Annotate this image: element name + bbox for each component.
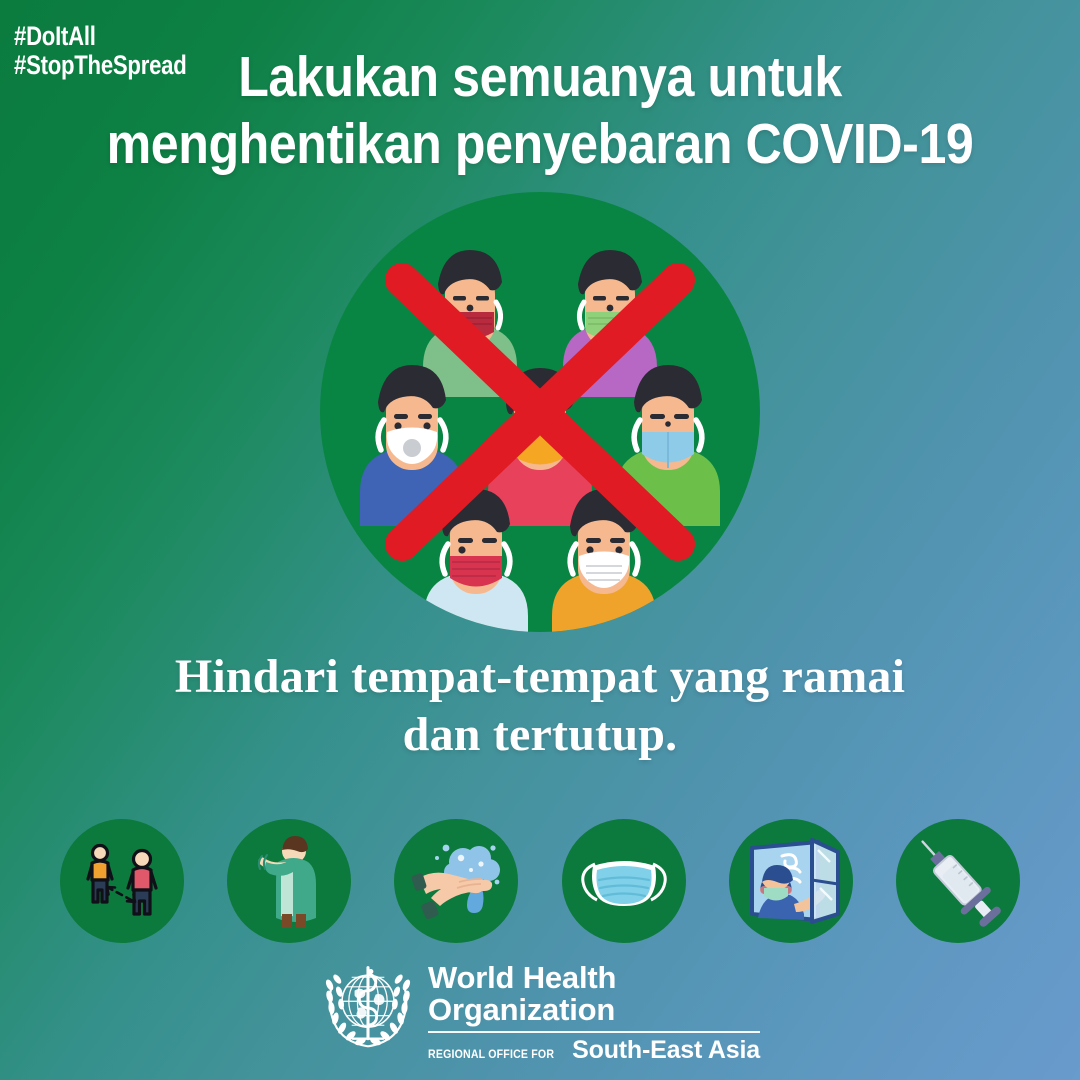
wash-hands-icon (394, 819, 518, 943)
headline-line-1: Lakukan semuanya untuk (65, 44, 1015, 111)
headline-line-2: menghentikan penyebaran COVID-19 (65, 111, 1015, 178)
wear-mask-icon (562, 819, 686, 943)
poster-canvas: #DoItAll #StopTheSpread Lakukan semuanya… (0, 0, 1080, 1080)
open-window-ventilation-icon (729, 819, 853, 943)
vaccine-syringe-icon (896, 819, 1020, 943)
who-regional-prefix: REGIONAL OFFICE FOR (428, 1049, 554, 1061)
who-name-line-1: World Health (428, 962, 760, 994)
physical-distancing-icon (60, 819, 184, 943)
who-region-name: South-East Asia (572, 1038, 760, 1063)
subtitle-line-1: Hindari tempat-tempat yang ramai (0, 648, 1080, 706)
who-name-line-2: Organization (428, 994, 760, 1026)
who-logo: World Health Organization REGIONAL OFFIC… (0, 958, 1080, 1063)
who-emblem-icon (320, 958, 416, 1056)
crowded-space-prohibited-icon (320, 192, 760, 632)
subtitle-message: Hindari tempat-tempat yang ramai dan ter… (0, 648, 1080, 763)
who-organization-name: World Health Organization (428, 962, 760, 1026)
who-divider (428, 1031, 760, 1033)
prevention-icon-row (60, 818, 1020, 944)
hero-illustration (320, 192, 760, 632)
subtitle-line-2: dan tertutup. (0, 706, 1080, 764)
cough-into-elbow-icon (227, 819, 351, 943)
page-title: Lakukan semuanya untuk menghentikan peny… (65, 44, 1015, 177)
